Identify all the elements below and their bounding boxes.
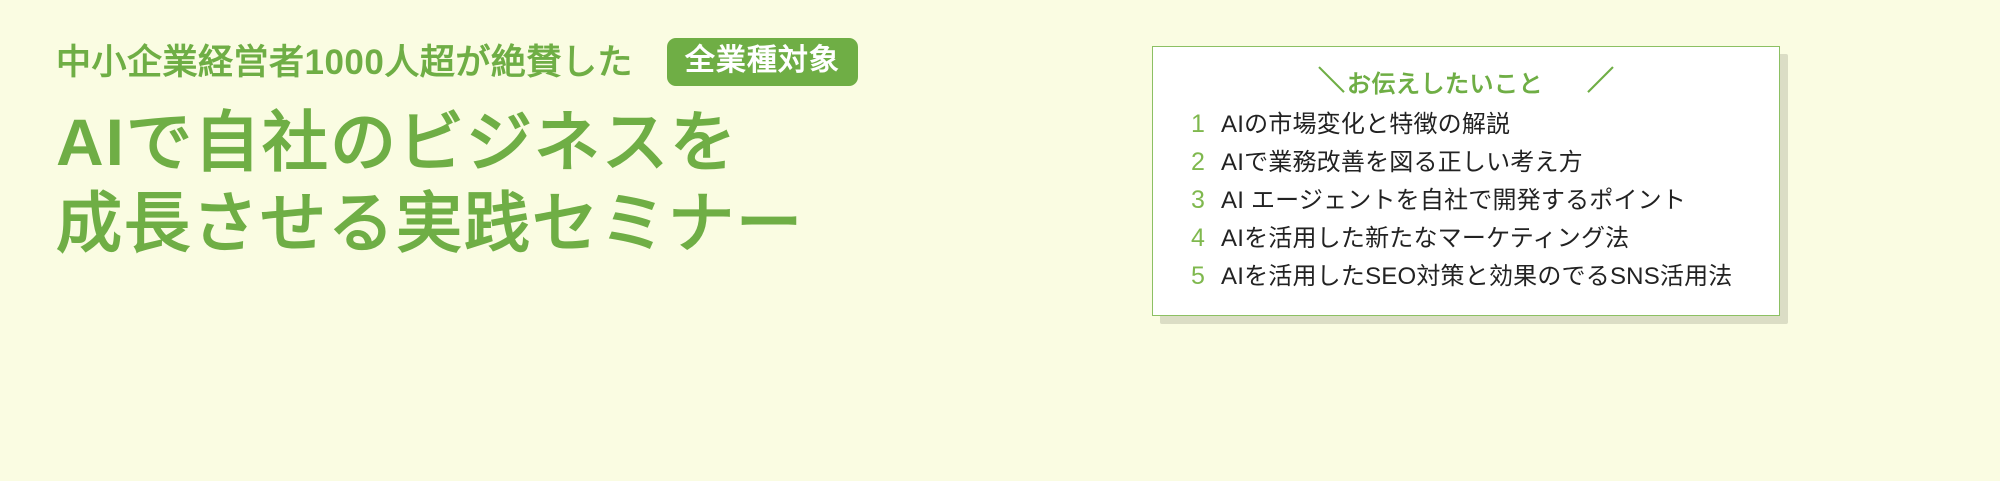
headline-line-2: 成長させる実践セミナー: [56, 183, 876, 264]
slash-right-icon: ／: [1587, 59, 1614, 98]
seminar-banner: 中小企業経営者1000人超が絶賛した 全業種対象 AIで自社のビジネスを 成長さ…: [0, 0, 2000, 481]
page-title: AIで自社のビジネスを 成長させる実践セミナー: [56, 102, 876, 263]
slash-left-icon: ＼: [1318, 59, 1345, 98]
list-item: 4 AIを活用した新たなマーケティング法: [1191, 226, 1779, 264]
list-item-number: 1: [1191, 112, 1221, 137]
topics-card: ＼ お伝えしたいこと ／ 1 AIの市場変化と特徴の解説 2 AIで業務改善を図…: [1152, 46, 1780, 316]
list-item-number: 2: [1191, 150, 1221, 175]
list-item-label: AI エージェントを自社で開発するポイント: [1221, 189, 1686, 213]
list-item: 1 AIの市場変化と特徴の解説: [1191, 112, 1779, 150]
topics-list: 1 AIの市場変化と特徴の解説 2 AIで業務改善を図る正しい考え方 3 AI …: [1153, 112, 1779, 302]
headline-block: 中小企業経営者1000人超が絶賛した 全業種対象 AIで自社のビジネスを 成長さ…: [56, 36, 876, 263]
card-title-text: お伝えしたいこと: [1347, 64, 1543, 99]
status-badge: 全業種対象: [667, 38, 858, 86]
kicker-text: 中小企業経営者1000人超が絶賛した: [56, 45, 633, 80]
list-item: 3 AI エージェントを自社で開発するポイント: [1191, 188, 1779, 226]
list-item: 2 AIで業務改善を図る正しい考え方: [1191, 150, 1779, 188]
headline-line-1: AIで自社のビジネスを: [56, 102, 876, 183]
list-item-number: 4: [1191, 226, 1221, 251]
card-body: ＼ お伝えしたいこと ／ 1 AIの市場変化と特徴の解説 2 AIで業務改善を図…: [1152, 46, 1780, 316]
list-item-label: AIで業務改善を図る正しい考え方: [1221, 151, 1583, 175]
card-title-row: ＼ お伝えしたいこと ／: [1153, 64, 1779, 98]
list-item: 5 AIを活用したSEO対策と効果のでるSNS活用法: [1191, 264, 1779, 302]
list-item-number: 3: [1191, 188, 1221, 213]
list-item-label: AIを活用した新たなマーケティング法: [1221, 227, 1629, 251]
list-item-number: 5: [1191, 264, 1221, 289]
list-item-label: AIを活用したSEO対策と効果のでるSNS活用法: [1221, 265, 1733, 289]
list-item-label: AIの市場変化と特徴の解説: [1221, 113, 1510, 137]
kicker-row: 中小企業経営者1000人超が絶賛した 全業種対象: [56, 36, 876, 88]
